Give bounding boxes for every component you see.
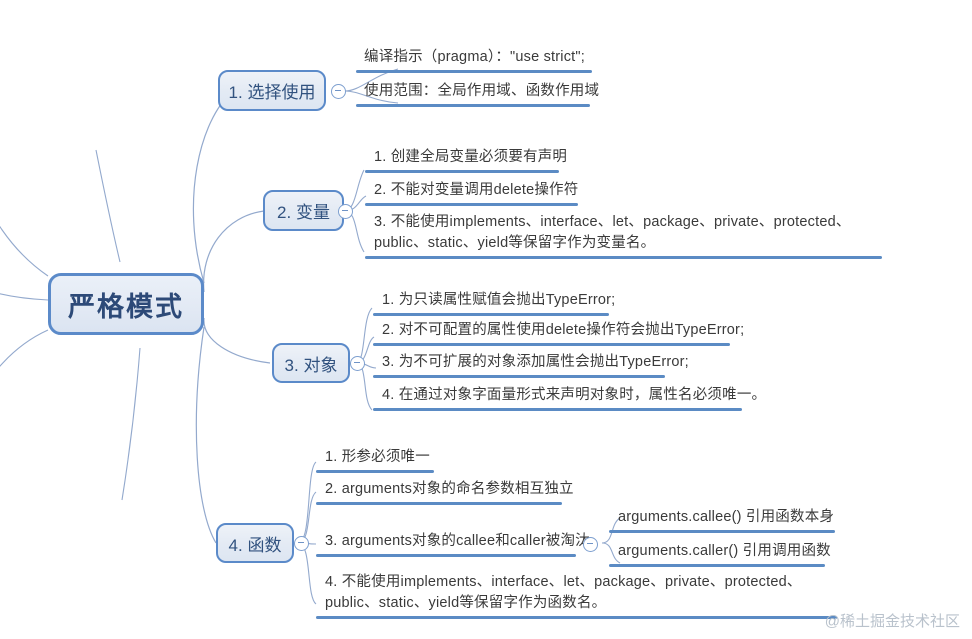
leaf-1-1-label: 编译指示（pragma）："use strict"; — [358, 47, 589, 70]
leaf-4-2[interactable]: 2. arguments对象的命名参数相互独立 — [319, 479, 578, 502]
leaf-3-3[interactable]: 3. 为不可扩展的对象添加属性会抛出TypeError; — [376, 352, 693, 375]
collapse-minus-icon-branch-3[interactable] — [350, 356, 365, 371]
leaf-2-1[interactable]: 1. 创建全局变量必须要有声明 — [368, 147, 571, 170]
branch-node-3-label: 3. 对象 — [285, 351, 338, 376]
leaf-3-4-underline — [373, 408, 742, 411]
leaf-4-3-1[interactable]: arguments.callee() 引用函数本身 — [612, 507, 838, 530]
leaf-2-3[interactable]: 3. 不能使用implements、interface、let、package、… — [368, 212, 880, 256]
leaf-3-1-underline — [373, 313, 609, 316]
leaf-1-1[interactable]: 编译指示（pragma）："use strict"; — [358, 47, 589, 70]
watermark: @稀土掘金技术社区 — [825, 610, 960, 631]
branch-node-4[interactable]: 4. 函数 — [216, 523, 294, 563]
branch-node-2-label: 2. 变量 — [277, 198, 330, 223]
leaf-3-3-underline — [373, 375, 665, 378]
leaf-4-4-underline — [316, 616, 837, 619]
leaf-3-2-label: 2. 对不可配置的属性使用delete操作符会抛出TypeError; — [376, 320, 748, 343]
leaf-3-1-label: 1. 为只读属性赋值会抛出TypeError; — [376, 290, 619, 313]
root-node-label: 严格模式 — [68, 285, 184, 324]
leaf-3-1[interactable]: 1. 为只读属性赋值会抛出TypeError; — [376, 290, 619, 313]
leaf-4-4-label: 4. 不能使用implements、interface、let、package、… — [319, 572, 834, 616]
leaf-4-3-2-underline — [609, 564, 825, 567]
branch-node-3[interactable]: 3. 对象 — [272, 343, 350, 383]
leaf-3-4[interactable]: 4. 在通过对象字面量形式来声明对象时，属性名必须唯一。 — [376, 385, 770, 408]
collapse-minus-icon-branch-4[interactable] — [294, 536, 309, 551]
leaf-4-4[interactable]: 4. 不能使用implements、interface、let、package、… — [319, 572, 834, 616]
leaf-3-2-underline — [373, 343, 730, 346]
leaf-4-3-underline — [316, 554, 576, 557]
leaf-1-2-underline — [356, 104, 590, 107]
leaf-4-3-1-label: arguments.callee() 引用函数本身 — [612, 507, 838, 530]
leaf-2-1-label: 1. 创建全局变量必须要有声明 — [368, 147, 571, 170]
leaf-4-1[interactable]: 1. 形参必须唯一 — [319, 447, 434, 470]
leaf-2-3-label: 3. 不能使用implements、interface、let、package、… — [368, 212, 880, 256]
branch-node-1[interactable]: 1. 选择使用 — [218, 70, 326, 111]
leaf-4-2-label: 2. arguments对象的命名参数相互独立 — [319, 479, 578, 502]
leaf-2-2[interactable]: 2. 不能对变量调用delete操作符 — [368, 180, 582, 203]
leaf-1-1-underline — [356, 70, 592, 73]
branch-node-1-label: 1. 选择使用 — [229, 78, 316, 103]
mindmap-canvas: 严格模式 1. 选择使用 编译指示（pragma）："use strict"; … — [0, 0, 972, 639]
leaf-2-2-label: 2. 不能对变量调用delete操作符 — [368, 180, 582, 203]
collapse-minus-icon-branch-2[interactable] — [338, 204, 353, 219]
leaf-4-1-label: 1. 形参必须唯一 — [319, 447, 434, 470]
leaf-3-2[interactable]: 2. 对不可配置的属性使用delete操作符会抛出TypeError; — [376, 320, 748, 343]
leaf-4-2-underline — [316, 502, 562, 505]
leaf-4-3-label: 3. arguments对象的callee和caller被淘汰 — [319, 531, 594, 554]
root-node[interactable]: 严格模式 — [48, 273, 204, 335]
leaf-3-4-label: 4. 在通过对象字面量形式来声明对象时，属性名必须唯一。 — [376, 385, 770, 408]
collapse-minus-icon-leaf-4-3[interactable] — [583, 537, 598, 552]
leaf-2-1-underline — [365, 170, 559, 173]
leaf-1-2[interactable]: 使用范围：全局作用域、函数作用域 — [358, 81, 603, 104]
branch-node-2[interactable]: 2. 变量 — [263, 190, 344, 231]
leaf-4-3-2[interactable]: arguments.caller() 引用调用函数 — [612, 541, 835, 564]
leaf-4-1-underline — [316, 470, 434, 473]
leaf-3-3-label: 3. 为不可扩展的对象添加属性会抛出TypeError; — [376, 352, 693, 375]
leaf-4-3[interactable]: 3. arguments对象的callee和caller被淘汰 — [319, 531, 594, 554]
leaf-1-2-label: 使用范围：全局作用域、函数作用域 — [358, 81, 603, 104]
collapse-minus-icon-branch-1[interactable] — [331, 84, 346, 99]
leaf-4-3-2-label: arguments.caller() 引用调用函数 — [612, 541, 835, 564]
leaf-2-3-underline — [365, 256, 882, 259]
leaf-2-2-underline — [365, 203, 578, 206]
leaf-4-3-1-underline — [609, 530, 835, 533]
branch-node-4-label: 4. 函数 — [229, 531, 282, 556]
